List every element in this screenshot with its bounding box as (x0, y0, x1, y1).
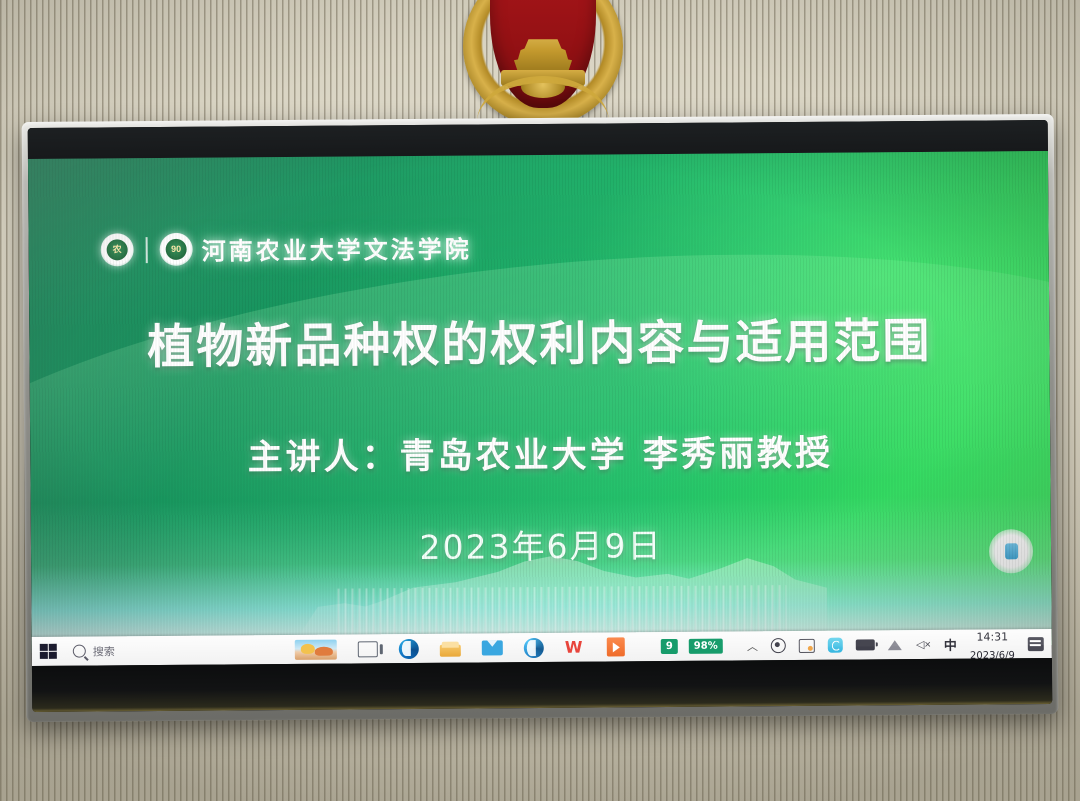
slide-speaker: 主讲人：青岛农业大学 李秀丽教授 (30, 423, 1050, 482)
taskbar-app-icons: W (295, 636, 625, 660)
wifi-icon[interactable] (888, 639, 903, 650)
battery-icon[interactable] (856, 639, 875, 650)
university-logo-mark: 农 (107, 239, 128, 260)
building-columns (337, 585, 786, 637)
notification-center-icon[interactable] (1028, 637, 1044, 651)
start-tile-1 (40, 644, 48, 651)
media-player-icon[interactable] (607, 637, 625, 656)
china-national-emblem-icon: ★ ★ ★ ★ ★ (463, 0, 623, 133)
volume-mute-icon[interactable]: ◁× (916, 638, 931, 651)
slide-title: 植物新品种权的权利内容与适用范围 (29, 301, 1050, 378)
floating-tool-button[interactable] (989, 529, 1033, 573)
mail-app-icon[interactable] (482, 640, 503, 655)
browser-app-icon[interactable] (524, 637, 544, 657)
taskbar-left: 搜索 (32, 642, 189, 659)
floating-tool-icon (1004, 543, 1017, 559)
taskbar-badges: 9 98% (661, 639, 723, 654)
security-center-icon[interactable] (771, 638, 786, 653)
anniversary-logo-mark: 90 (166, 239, 187, 260)
battery-percent-badge[interactable]: 98% (689, 639, 723, 654)
weather-widget-icon[interactable] (295, 639, 337, 659)
search-icon (73, 645, 86, 658)
wall-mounted-display: 农 90 河南农业大学文法学院 植物新品种权的权利内容与适用范围 主讲人：青岛农… (22, 114, 1059, 722)
screenshot-tool-icon[interactable] (799, 638, 815, 652)
chevron-up-icon[interactable]: ︿ (747, 638, 758, 654)
clock-time: 14:31 (976, 630, 1008, 643)
institution-name: 河南农业大学文法学院 (202, 230, 472, 267)
task-view-icon[interactable] (358, 641, 378, 657)
display-panel: 农 90 河南农业大学文法学院 植物新品种权的权利内容与适用范围 主讲人：青岛农… (28, 120, 1053, 712)
start-tile-2 (49, 644, 57, 651)
slide-header: 农 90 河南农业大学文法学院 (101, 230, 472, 268)
letterbox-bottom (32, 658, 1052, 712)
logo-divider (146, 237, 148, 263)
ime-language-icon[interactable]: 中 (944, 635, 957, 654)
start-tile-4 (49, 652, 57, 659)
file-explorer-icon[interactable] (440, 640, 461, 657)
taskbar-clock[interactable]: 14:31 2023/6/9 (970, 626, 1015, 662)
taskbar-search-input[interactable]: 搜索 (73, 642, 189, 659)
search-placeholder: 搜索 (93, 643, 115, 659)
windows-start-icon[interactable] (40, 644, 57, 659)
edge-browser-icon[interactable] (399, 638, 419, 658)
presentation-slide: 农 90 河南农业大学文法学院 植物新品种权的权利内容与适用范围 主讲人：青岛农… (28, 151, 1052, 653)
wps-office-icon[interactable]: W (565, 637, 586, 658)
start-tile-3 (40, 652, 48, 659)
notification-count-badge[interactable]: 9 (661, 639, 678, 654)
cloud-sync-icon[interactable] (828, 638, 843, 653)
anniversary-logo-icon: 90 (160, 233, 193, 266)
university-logo-icon: 农 (101, 233, 134, 266)
